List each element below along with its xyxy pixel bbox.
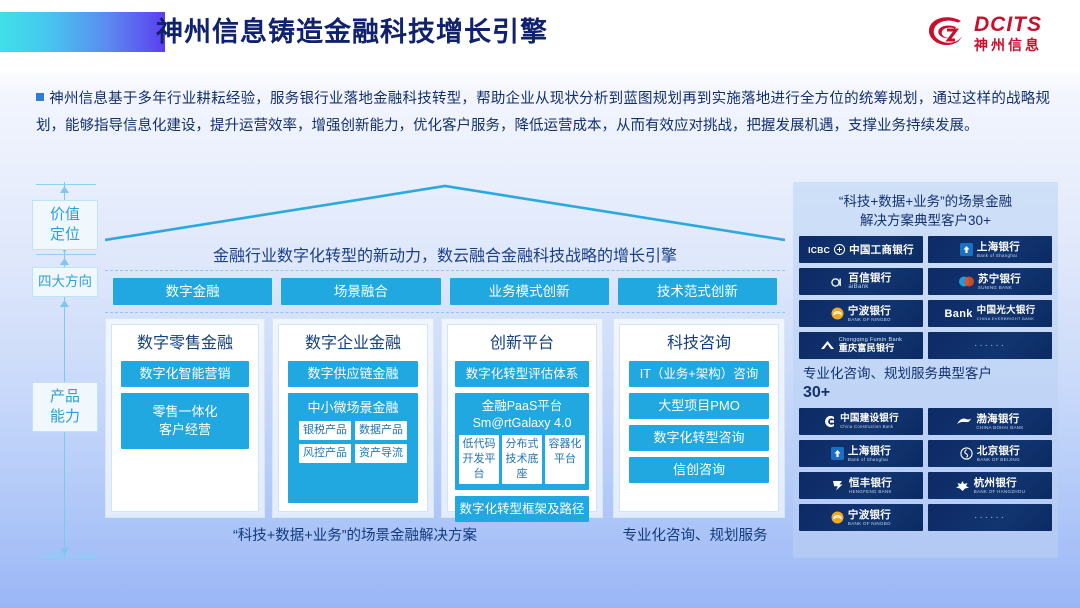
rail-label: 四大方向 bbox=[38, 274, 92, 289]
dcits-mark-icon bbox=[925, 14, 967, 52]
customers-heading-2-line1: 专业化咨询、规划服务典型客户 bbox=[803, 366, 992, 381]
page-title: 神州信息铸造金融科技增长引擎 bbox=[156, 10, 548, 54]
card-block-digital-transformation-consulting[interactable]: 数字化转型咨询 bbox=[629, 425, 769, 451]
dashed-divider bbox=[105, 270, 785, 271]
direction-pill-business-model-innovation[interactable]: 业务模式创新 bbox=[450, 278, 609, 305]
slide-header: 神州信息铸造金融科技增长引擎 DCITS 神州信息 bbox=[0, 0, 1080, 72]
aibank-icon bbox=[830, 275, 844, 288]
chip-risk-control-product[interactable]: 风控产品 bbox=[299, 444, 351, 463]
logo-label: 恒丰银行 bbox=[849, 477, 892, 489]
logo-label-en: aiBank bbox=[848, 284, 868, 291]
logo-prefix: Bank bbox=[945, 308, 973, 320]
logo-label: 上海银行 bbox=[977, 241, 1020, 253]
caption-consulting-service: 专业化咨询、规划服务 bbox=[605, 524, 785, 545]
card-block-it-consulting[interactable]: IT（业务+架构）咨询 bbox=[629, 361, 769, 387]
logo-label-en: BANK OF NINGBO bbox=[848, 521, 891, 526]
product-cards-row: 数字零售金融 数字化智能营销 零售一体化 客户经营 数字企业金融 数字供应链金融… bbox=[105, 318, 785, 518]
caption-scenario-solution: “科技+数据+业务”的场景金融解决方案 bbox=[105, 524, 605, 545]
product-card-retail: 数字零售金融 数字化智能营销 零售一体化 客户经营 bbox=[105, 318, 265, 518]
card-group-sme-scenario-finance: 中小微场景金融 银税产品 数据产品 风控产品 资产导流 bbox=[288, 393, 418, 503]
bank-of-ningbo-icon bbox=[831, 511, 844, 524]
logo-label-en: CHINA EVERBRIGHT BANK bbox=[977, 317, 1035, 322]
bank-of-ningbo-icon bbox=[831, 307, 844, 320]
intro-text: 神州信息基于多年行业耕耘经验，服务银行业落地金融科技转型，帮助企业从现状分析到蓝… bbox=[36, 91, 1050, 134]
intro-paragraph: 神州信息基于多年行业耕耘经验，服务银行业落地金融科技转型，帮助企业从现状分析到蓝… bbox=[36, 86, 1050, 140]
rail-divider bbox=[36, 184, 96, 185]
card-block-large-project-pmo[interactable]: 大型项目PMO bbox=[629, 393, 769, 419]
logo-label-en: Bank of Shanghai bbox=[848, 457, 888, 462]
logo-item-aibank[interactable]: 百信银行 aiBank bbox=[799, 268, 923, 295]
logo-label-en: SUNING BANK bbox=[978, 285, 1012, 290]
bohai-bank-icon bbox=[956, 416, 972, 427]
logo-label: 杭州银行 bbox=[974, 477, 1017, 489]
four-directions-row: 数字金融 场景融合 业务模式创新 技术范式创新 bbox=[105, 278, 785, 305]
card-title: 科技咨询 bbox=[629, 331, 769, 357]
product-card-tech-consulting: 科技咨询 IT（业务+架构）咨询 大型项目PMO 数字化转型咨询 信创咨询 bbox=[613, 318, 785, 518]
rail-arrow-up-icon bbox=[60, 300, 69, 307]
bank-of-shanghai-icon bbox=[960, 243, 973, 256]
logo-label: 渤海银行 bbox=[976, 413, 1019, 425]
center-panel: 金融行业数字化转型的新动力，数云融合金融科技战略的增长引擎 数字金融 场景融合 … bbox=[105, 182, 785, 558]
logo-text-cn: 神州信息 bbox=[974, 38, 1042, 52]
rail-item-product-capability[interactable]: 产品 能力 bbox=[32, 382, 98, 432]
chip-asset-routing[interactable]: 资产导流 bbox=[355, 444, 407, 463]
logo-item-bank-of-beijing[interactable]: 北京银行 BANK OF BEIJING bbox=[928, 440, 1052, 467]
logo-item-fumin-bank[interactable]: Chongqing Fumin Bank 重庆富民银行 bbox=[799, 332, 923, 359]
chip-tax-bank-product[interactable]: 银税产品 bbox=[299, 421, 351, 440]
card-block-transformation-framework[interactable]: 数字化转型框架及路径 bbox=[455, 496, 589, 522]
card-title: 数字零售金融 bbox=[121, 331, 249, 357]
logo-item-more-2[interactable]: ······ bbox=[928, 504, 1052, 531]
bank-of-shanghai-icon bbox=[831, 447, 844, 460]
rail-label: 价值 定位 bbox=[50, 206, 80, 243]
chip-distributed-tech-base[interactable]: 分布式技术底座 bbox=[502, 435, 542, 484]
card-block-transformation-assessment[interactable]: 数字化转型评估体系 bbox=[455, 361, 589, 387]
logo-label: 中国工商银行 bbox=[849, 242, 914, 257]
dcits-logo: DCITS 神州信息 bbox=[925, 14, 1042, 52]
logo-label: 上海银行 bbox=[848, 445, 891, 457]
card-group-paas-platform: 金融PaaS平台 Sm@rtGalaxy 4.0 低代码开发平台 分布式技术底座… bbox=[455, 393, 589, 490]
rail-label: 产品 能力 bbox=[50, 388, 80, 425]
logo-label-en: CHINA BOHAI BANK bbox=[976, 425, 1023, 430]
logo-item-bank-of-shanghai[interactable]: 上海银行 Bank of Shanghai bbox=[928, 236, 1052, 263]
customers-heading-2: 专业化咨询、规划服务典型客户 30+ bbox=[799, 359, 1052, 408]
logo-item-more-1[interactable]: ······ bbox=[928, 332, 1052, 359]
bank-of-hangzhou-icon bbox=[955, 480, 970, 492]
logo-prefix: ICBC bbox=[808, 245, 830, 255]
logo-label: 苏宁银行 bbox=[978, 273, 1021, 285]
chip-container-platform[interactable]: 容器化平台 bbox=[545, 435, 585, 484]
customers-panel: “科技+数据+业务”的场景金融 解决方案典型客户30+ ICBC 中国工商银行 … bbox=[793, 182, 1058, 558]
rail-divider bbox=[36, 254, 96, 255]
logo-label: 百信银行 bbox=[848, 272, 891, 284]
rail-item-value-positioning[interactable]: 价值 定位 bbox=[32, 200, 98, 250]
logo-label: 宁波银行 bbox=[848, 509, 891, 521]
hengfeng-bank-icon bbox=[830, 479, 845, 492]
dashed-divider bbox=[105, 312, 785, 313]
card-block-smart-marketing[interactable]: 数字化智能营销 bbox=[121, 361, 249, 387]
direction-pill-digital-finance[interactable]: 数字金融 bbox=[113, 278, 272, 305]
logo-label: 北京银行 bbox=[977, 445, 1020, 457]
logo-label: 宁波银行 bbox=[848, 305, 891, 317]
bullet-square-icon bbox=[36, 93, 44, 101]
rail-divider bbox=[36, 556, 96, 557]
ccb-icon bbox=[823, 415, 836, 428]
card-block-xinchuang-consulting[interactable]: 信创咨询 bbox=[629, 457, 769, 483]
logo-item-bohai-bank[interactable]: 渤海银行 CHINA BOHAI BANK bbox=[928, 408, 1052, 435]
rail-arrow-up-icon bbox=[60, 258, 69, 265]
logo-item-suning-bank[interactable]: 苏宁银行 SUNING BANK bbox=[928, 268, 1052, 295]
ellipsis-icon: ······ bbox=[974, 340, 1006, 351]
logo-label-en: Bank of Shanghai bbox=[977, 253, 1017, 258]
rail-arrow-up-icon bbox=[60, 186, 69, 193]
card-title: 数字企业金融 bbox=[288, 331, 418, 357]
logo-label: 中国建设银行 bbox=[840, 414, 899, 425]
header-accent-bar bbox=[0, 12, 165, 52]
fumin-bank-icon bbox=[820, 340, 835, 352]
direction-pill-scenario-fusion[interactable]: 场景融合 bbox=[281, 278, 440, 305]
suning-bank-icon bbox=[959, 275, 974, 288]
logo-item-bank-of-ningbo-2[interactable]: 宁波银行 BANK OF NINGBO bbox=[799, 504, 923, 531]
left-rail: 价值 定位 四大方向 产品 能力 bbox=[28, 182, 102, 558]
logo-label-en: BANK OF BEIJING bbox=[977, 457, 1020, 462]
logo-item-everbright[interactable]: Bank 中国光大银行 CHINA EVERBRIGHT BANK bbox=[928, 300, 1052, 327]
logo-item-bank-of-hangzhou[interactable]: 杭州银行 BANK OF HANGZHOU bbox=[928, 472, 1052, 499]
customer-logo-grid-1: ICBC 中国工商银行 上海银行 Bank of Shanghai 百信银行 a… bbox=[799, 236, 1052, 359]
center-headline: 金融行业数字化转型的新动力，数云融合金融科技战略的增长引擎 bbox=[105, 242, 785, 266]
logo-text-en: DCITS bbox=[974, 14, 1042, 35]
card-block-supply-chain-finance[interactable]: 数字供应链金融 bbox=[288, 361, 418, 387]
group-title: 中小微场景金融 bbox=[292, 398, 414, 417]
customer-logo-grid-2: 中国建设银行 China Construction Bank 渤海银行 CHIN… bbox=[799, 408, 1052, 531]
product-card-innovation-platform: 创新平台 数字化转型评估体系 金融PaaS平台 Sm@rtGalaxy 4.0 … bbox=[441, 318, 603, 518]
logo-label-en: China Construction Bank bbox=[840, 425, 893, 430]
card-block-retail-integrated-ops[interactable]: 零售一体化 客户经营 bbox=[121, 393, 249, 449]
logo-item-hengfeng-bank[interactable]: 恒丰银行 HENGFENG BANK bbox=[799, 472, 923, 499]
logo-item-icbc[interactable]: ICBC 中国工商银行 bbox=[799, 236, 923, 263]
card-title: 创新平台 bbox=[455, 331, 589, 357]
logo-label-en: BANK OF NINGBO bbox=[848, 317, 891, 322]
icbc-icon bbox=[834, 244, 845, 255]
direction-pill-tech-paradigm-innovation[interactable]: 技术范式创新 bbox=[618, 278, 777, 305]
paas-title-line1: 金融PaaS平台 bbox=[459, 398, 585, 415]
customers-heading-1: “科技+数据+业务”的场景金融 解决方案典型客户30+ bbox=[799, 188, 1052, 236]
bank-of-beijing-icon bbox=[960, 447, 973, 460]
logo-label-en: BANK OF HANGZHOU bbox=[974, 489, 1026, 494]
logo-label-en: HENGFENG BANK bbox=[849, 489, 892, 494]
rail-arrow-down-icon bbox=[60, 548, 69, 555]
ellipsis-icon: ······ bbox=[974, 512, 1006, 523]
customers-heading-2-line2: 30+ bbox=[803, 384, 830, 401]
roof-chevron-icon bbox=[105, 182, 785, 244]
logo-label: 重庆富民银行 bbox=[839, 343, 895, 353]
rail-item-four-directions[interactable]: 四大方向 bbox=[32, 267, 98, 297]
product-card-enterprise: 数字企业金融 数字供应链金融 中小微场景金融 银税产品 数据产品 风控产品 资产… bbox=[272, 318, 434, 518]
paas-title-line2: Sm@rtGalaxy 4.0 bbox=[459, 415, 585, 432]
logo-item-ccb[interactable]: 中国建设银行 China Construction Bank bbox=[799, 408, 923, 435]
slide-root: 神州信息铸造金融科技增长引擎 DCITS 神州信息 神州信息基于多年行业耕耘经验… bbox=[0, 0, 1080, 608]
chip-lowcode-platform[interactable]: 低代码开发平台 bbox=[459, 435, 499, 484]
logo-item-bank-of-ningbo[interactable]: 宁波银行 BANK OF NINGBO bbox=[799, 300, 923, 327]
logo-item-bank-of-shanghai-2[interactable]: 上海银行 Bank of Shanghai bbox=[799, 440, 923, 467]
chip-data-product[interactable]: 数据产品 bbox=[355, 421, 407, 440]
